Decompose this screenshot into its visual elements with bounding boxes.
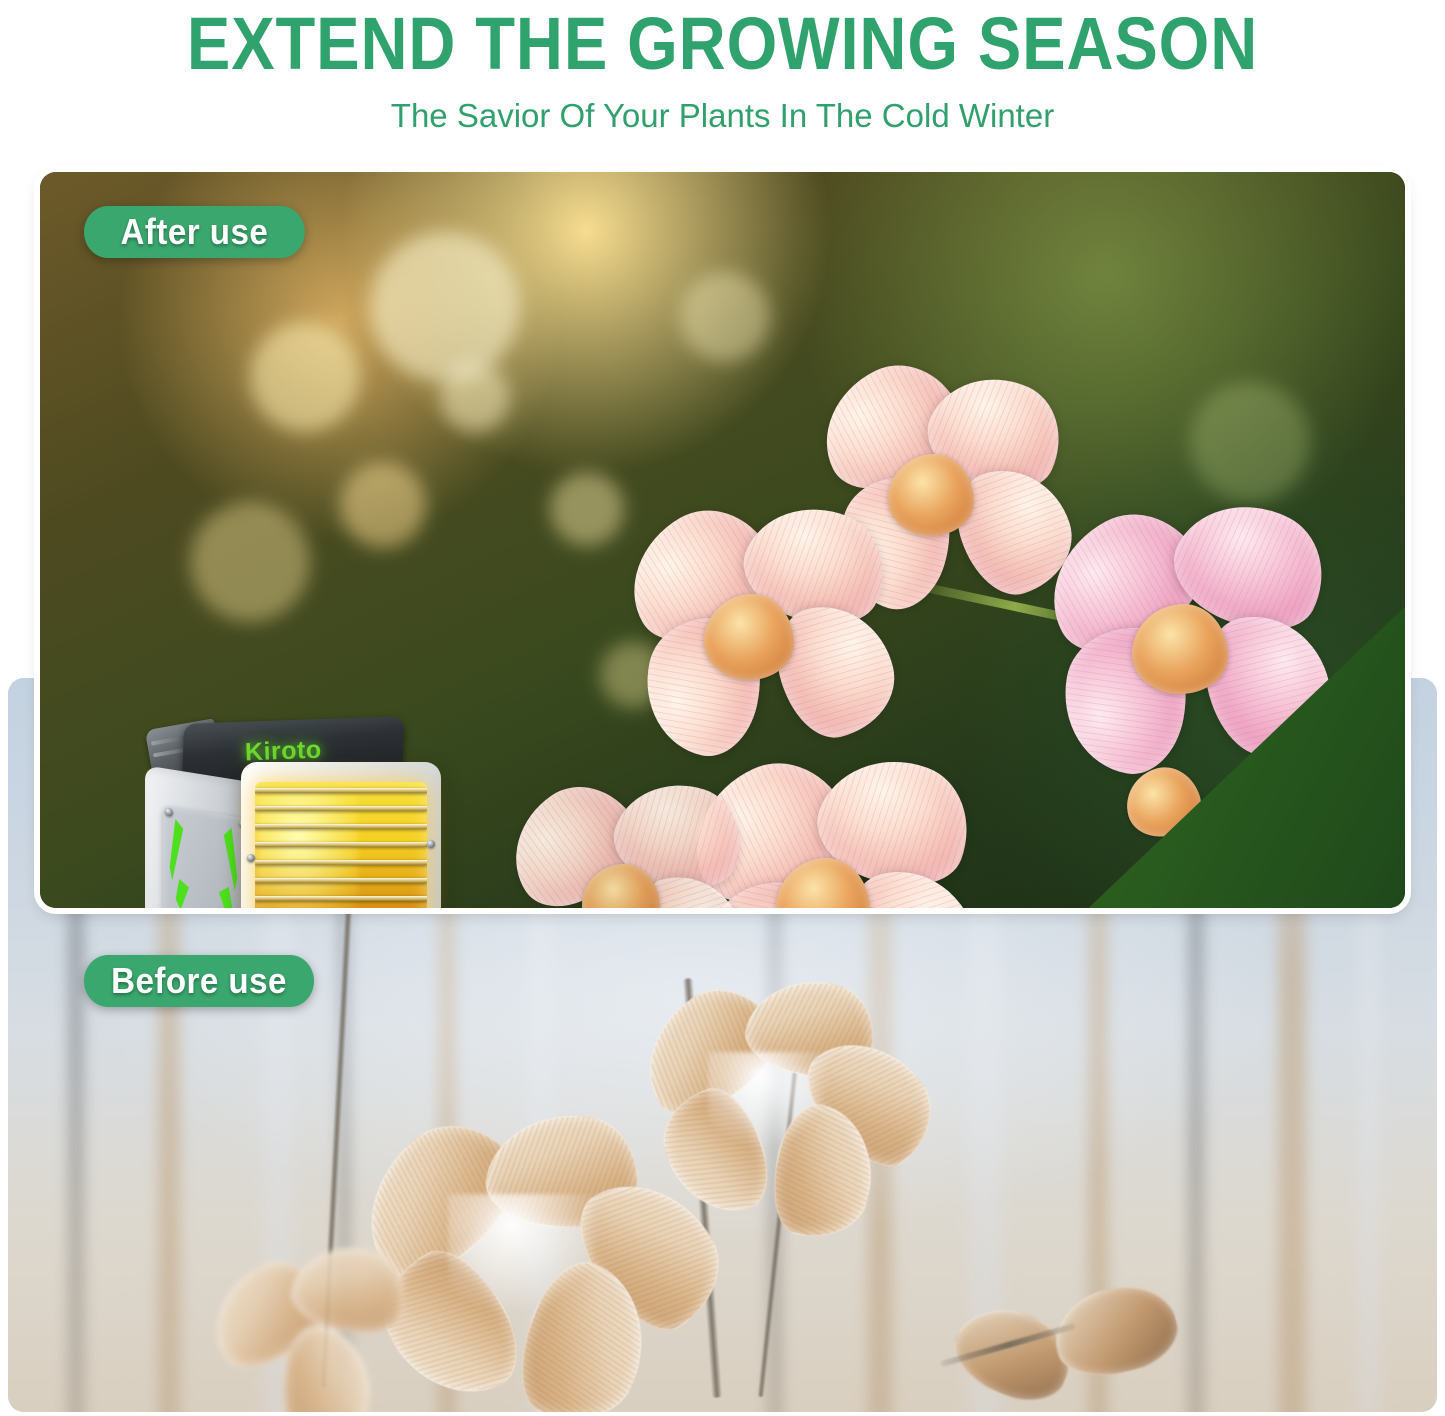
frost-crystals bbox=[448, 1194, 608, 1334]
grille-bar bbox=[255, 788, 427, 793]
vent-slot bbox=[167, 819, 185, 882]
vent-slot bbox=[218, 887, 235, 908]
bokeh-light bbox=[340, 462, 426, 548]
grille-bar bbox=[255, 860, 427, 865]
bokeh-light bbox=[680, 272, 770, 362]
bokeh-light bbox=[370, 232, 520, 382]
orchid-flower bbox=[600, 502, 900, 772]
screw bbox=[165, 808, 173, 817]
after-use-photo: Kiroto bbox=[40, 172, 1405, 908]
badge-after-use: After use bbox=[84, 206, 305, 258]
bokeh-light bbox=[1190, 382, 1310, 502]
orchid-lip bbox=[704, 594, 794, 680]
page-subtitle: The Savior Of Your Plants In The Cold Wi… bbox=[0, 96, 1445, 136]
orchid-lip bbox=[888, 454, 974, 536]
grille-bar bbox=[255, 824, 427, 829]
grille-bar bbox=[255, 878, 427, 883]
grille-bar bbox=[255, 806, 427, 811]
heater-front-face bbox=[241, 762, 441, 908]
heater-body bbox=[145, 762, 435, 908]
vent-slot bbox=[173, 879, 190, 908]
screw bbox=[427, 840, 435, 848]
frosted-bud-cluster-right bbox=[938, 1278, 1198, 1412]
orchid-flower bbox=[490, 772, 760, 908]
vent-slot bbox=[184, 906, 197, 908]
bokeh-light bbox=[190, 502, 310, 622]
grille-bar bbox=[255, 896, 427, 901]
page-title: EXTEND THE GROWING SEASON bbox=[87, 4, 1359, 84]
frosted-flower-left-blurred bbox=[198, 1238, 448, 1412]
vent-slot bbox=[202, 907, 214, 908]
heater-grille bbox=[255, 782, 427, 908]
vent-slot bbox=[223, 828, 241, 891]
bokeh-light bbox=[250, 322, 360, 432]
heater-side-plate bbox=[163, 805, 249, 908]
product-marketing-image: EXTEND THE GROWING SEASON The Savior Of … bbox=[0, 0, 1445, 1416]
grille-bar bbox=[255, 842, 427, 847]
screw bbox=[247, 854, 255, 862]
patio-heater-product: Kiroto bbox=[135, 712, 465, 908]
badge-before-use: Before use bbox=[84, 955, 314, 1007]
